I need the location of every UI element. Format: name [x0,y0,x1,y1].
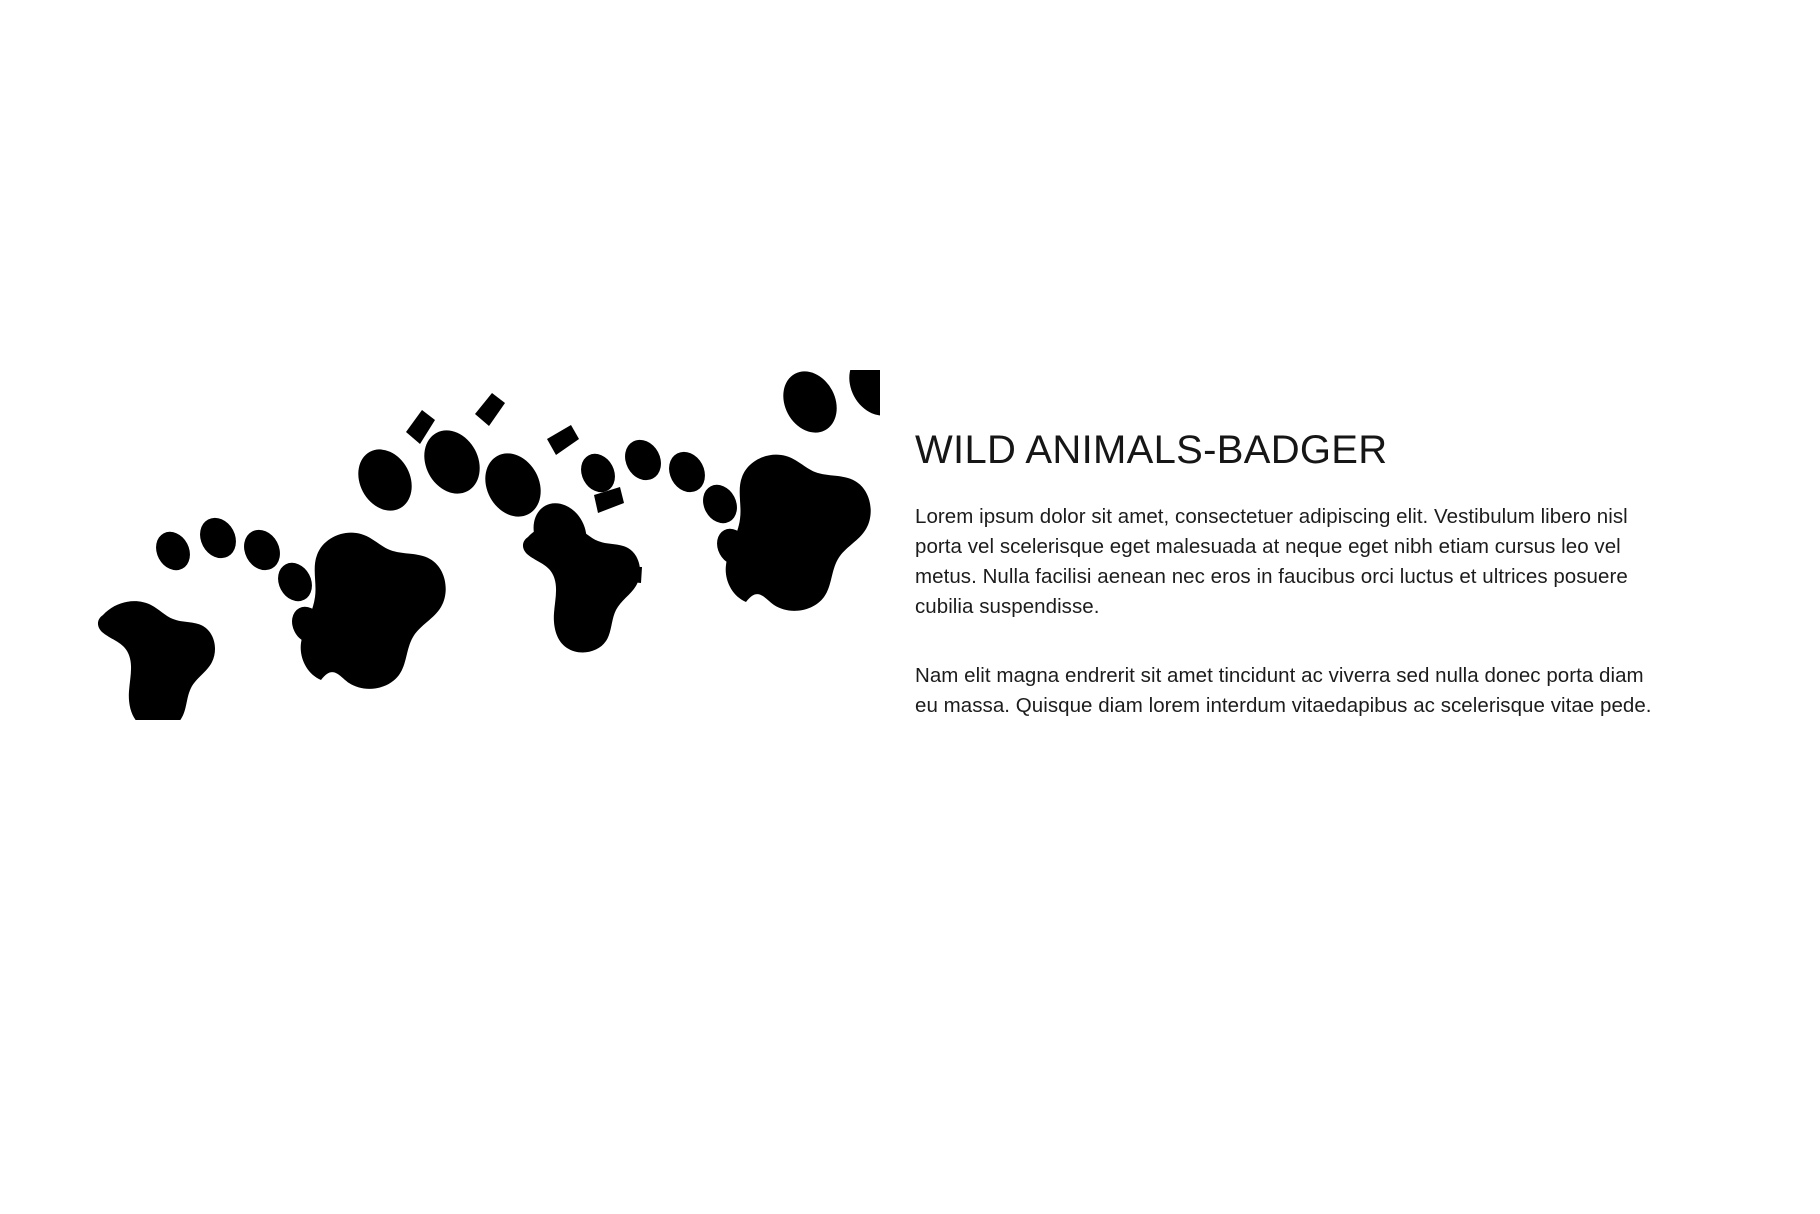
article-text-block: WILD ANIMALS-BADGER Lorem ipsum dolor si… [915,428,1655,721]
paw-print-front-right [726,370,880,611]
body-paragraph-1: Lorem ipsum dolor sit amet, consectetuer… [915,502,1655,623]
body-paragraph-2: Nam elit magna endrerit sit amet tincidu… [915,661,1655,721]
page-title: WILD ANIMALS-BADGER [915,428,1655,472]
paw-print-rear-right [523,433,755,652]
page-canvas: WILD ANIMALS-BADGER Lorem ipsum dolor si… [0,0,1820,1214]
badger-paw-prints-illustration [70,370,880,720]
paw-print-rear-left [98,511,330,720]
